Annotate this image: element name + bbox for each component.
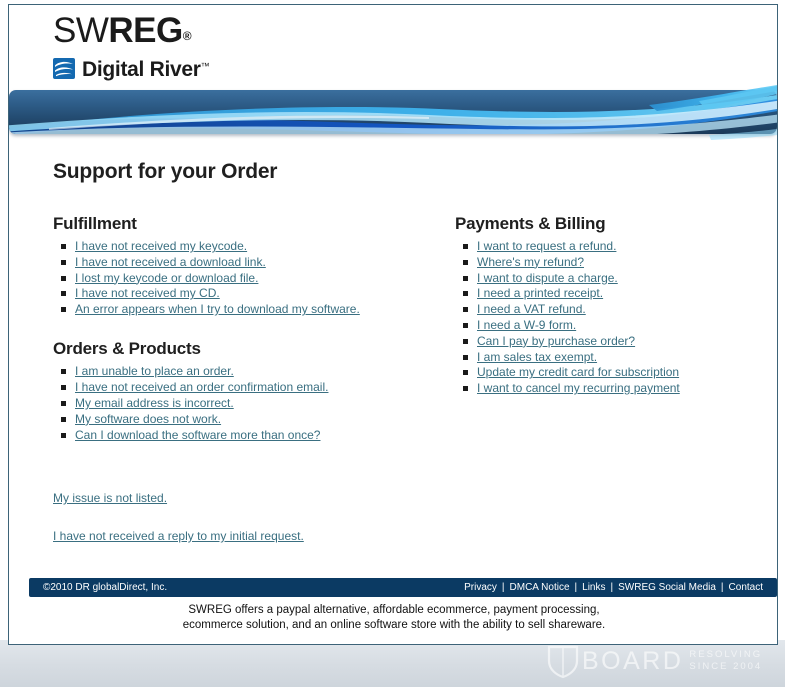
watermark-word: BOARD xyxy=(582,649,683,674)
list-item: I lost my keycode or download file. xyxy=(75,271,433,286)
support-link-orders-3[interactable]: My software does not work. xyxy=(75,412,221,426)
support-link-payments-6[interactable]: Can I pay by purchase order? xyxy=(477,334,635,348)
copyright-text: ©2010 DR globalDirect, Inc. xyxy=(43,582,167,593)
additional-links: My issue is not listed. I have not recei… xyxy=(53,491,473,567)
support-link-payments-5[interactable]: I need a W-9 form. xyxy=(477,318,576,332)
loose-link-row-1: I have not received a reply to my initia… xyxy=(53,529,473,543)
list-item: I have not received an order confirmatio… xyxy=(75,380,433,395)
support-link-payments-1[interactable]: Where's my refund? xyxy=(477,255,584,269)
section-heading-fulfillment: Fulfillment xyxy=(53,214,433,234)
support-link-payments-0[interactable]: I want to request a refund. xyxy=(477,239,616,253)
support-link-payments-9[interactable]: I want to cancel my recurring payment xyxy=(477,381,680,395)
screenshot-canvas: SWREG® Digital River™ xyxy=(0,0,785,687)
link-list-fulfillment: I have not received my keycode. I have n… xyxy=(53,239,433,317)
support-link-payments-7[interactable]: I am sales tax exempt. xyxy=(477,350,597,364)
footer-separator: | xyxy=(611,582,614,593)
header-banner xyxy=(9,83,777,149)
section-heading-payments-billing: Payments & Billing xyxy=(455,214,755,234)
list-item: An error appears when I try to download … xyxy=(75,302,433,317)
list-item: I want to dispute a charge. xyxy=(477,271,755,286)
page-container: SWREG® Digital River™ xyxy=(8,4,778,645)
shield-icon xyxy=(546,643,580,679)
board-watermark: BOARD RESOLVING SINCE 2004 xyxy=(546,643,762,679)
link-list-payments-billing: I want to request a refund. Where's my r… xyxy=(455,239,755,396)
list-item: I need a printed receipt. xyxy=(477,286,755,301)
digital-river-lockup: Digital River™ xyxy=(53,56,209,80)
footer-separator: | xyxy=(721,582,724,593)
list-item: I have not received my CD. xyxy=(75,286,433,301)
footer-link-contact[interactable]: Contact xyxy=(729,582,763,593)
watermark-sub-line-2: SINCE 2004 xyxy=(689,661,762,673)
site-tagline: SWREG offers a paypal alternative, affor… xyxy=(9,603,778,632)
list-item: My software does not work. xyxy=(75,412,433,427)
footer-link-swreg-social-media[interactable]: SWREG Social Media xyxy=(618,582,716,593)
support-link-orders-1[interactable]: I have not received an order confirmatio… xyxy=(75,380,328,394)
issue-not-listed-link[interactable]: My issue is not listed. xyxy=(53,491,167,505)
logo-sw-text: SW xyxy=(53,11,108,50)
list-item: I am sales tax exempt. xyxy=(477,350,755,365)
registered-mark-icon: ® xyxy=(183,29,191,43)
banner-bar xyxy=(9,90,777,134)
section-fulfillment: Fulfillment I have not received my keyco… xyxy=(53,214,433,317)
watermark-sub-line-1: RESOLVING xyxy=(689,649,762,661)
support-link-orders-2[interactable]: My email address is incorrect. xyxy=(75,396,234,410)
support-link-fulfillment-4[interactable]: An error appears when I try to download … xyxy=(75,302,360,316)
support-link-payments-4[interactable]: I need a VAT refund. xyxy=(477,302,586,316)
site-logo[interactable]: SWREG® Digital River™ xyxy=(53,13,209,80)
support-link-fulfillment-3[interactable]: I have not received my CD. xyxy=(75,286,220,300)
list-item: I need a W-9 form. xyxy=(477,318,755,333)
trademark-icon: ™ xyxy=(201,61,210,71)
support-link-payments-3[interactable]: I need a printed receipt. xyxy=(477,286,603,300)
list-item: I am unable to place an order. xyxy=(75,364,433,379)
digital-river-text: Digital River™ xyxy=(82,56,209,80)
footer-separator: | xyxy=(575,582,578,593)
footer-link-dmca-notice[interactable]: DMCA Notice xyxy=(510,582,570,593)
no-reply-link[interactable]: I have not received a reply to my initia… xyxy=(53,529,304,543)
list-item: I need a VAT refund. xyxy=(477,302,755,317)
support-link-payments-2[interactable]: I want to dispute a charge. xyxy=(477,271,618,285)
tagline-line-2: ecommerce solution, and an online softwa… xyxy=(9,618,778,633)
footer-separator: | xyxy=(502,582,505,593)
left-column: Fulfillment I have not received my keyco… xyxy=(53,214,433,443)
support-link-fulfillment-2[interactable]: I lost my keycode or download file. xyxy=(75,271,258,285)
support-link-orders-4[interactable]: Can I download the software more than on… xyxy=(75,428,320,442)
section-orders-products: Orders & Products I am unable to place a… xyxy=(53,339,433,442)
footer-links: Privacy | DMCA Notice | Links | SWREG So… xyxy=(464,582,763,593)
support-link-fulfillment-1[interactable]: I have not received a download link. xyxy=(75,255,266,269)
right-column: Payments & Billing I want to request a r… xyxy=(455,214,755,397)
list-item: Where's my refund? xyxy=(477,255,755,270)
footer-bar: ©2010 DR globalDirect, Inc. Privacy | DM… xyxy=(29,578,777,597)
link-list-orders-products: I am unable to place an order. I have no… xyxy=(53,364,433,442)
digital-river-label: Digital River xyxy=(82,58,201,81)
section-heading-orders-products: Orders & Products xyxy=(53,339,433,359)
swreg-wordmark: SWREG® xyxy=(53,13,209,54)
list-item: Can I download the software more than on… xyxy=(75,428,433,443)
tagline-line-1: SWREG offers a paypal alternative, affor… xyxy=(9,603,778,618)
logo-reg-text: REG xyxy=(108,11,182,50)
footer-link-privacy[interactable]: Privacy xyxy=(464,582,497,593)
page-title: Support for your Order xyxy=(53,160,277,184)
list-item: I want to request a refund. xyxy=(477,239,755,254)
watermark-subtitle: RESOLVING SINCE 2004 xyxy=(689,649,762,673)
footer-link-links[interactable]: Links xyxy=(582,582,605,593)
digital-river-wave-icon xyxy=(53,58,75,79)
support-link-fulfillment-0[interactable]: I have not received my keycode. xyxy=(75,239,247,253)
support-link-orders-0[interactable]: I am unable to place an order. xyxy=(75,364,234,378)
list-item: I want to cancel my recurring payment xyxy=(477,381,755,396)
list-item: I have not received my keycode. xyxy=(75,239,433,254)
list-item: Update my credit card for subscription xyxy=(477,365,755,380)
list-item: I have not received a download link. xyxy=(75,255,433,270)
loose-link-row-0: My issue is not listed. xyxy=(53,491,473,505)
support-link-payments-8[interactable]: Update my credit card for subscription xyxy=(477,365,679,379)
list-item: My email address is incorrect. xyxy=(75,396,433,411)
list-item: Can I pay by purchase order? xyxy=(477,334,755,349)
section-payments-billing: Payments & Billing I want to request a r… xyxy=(455,214,755,396)
